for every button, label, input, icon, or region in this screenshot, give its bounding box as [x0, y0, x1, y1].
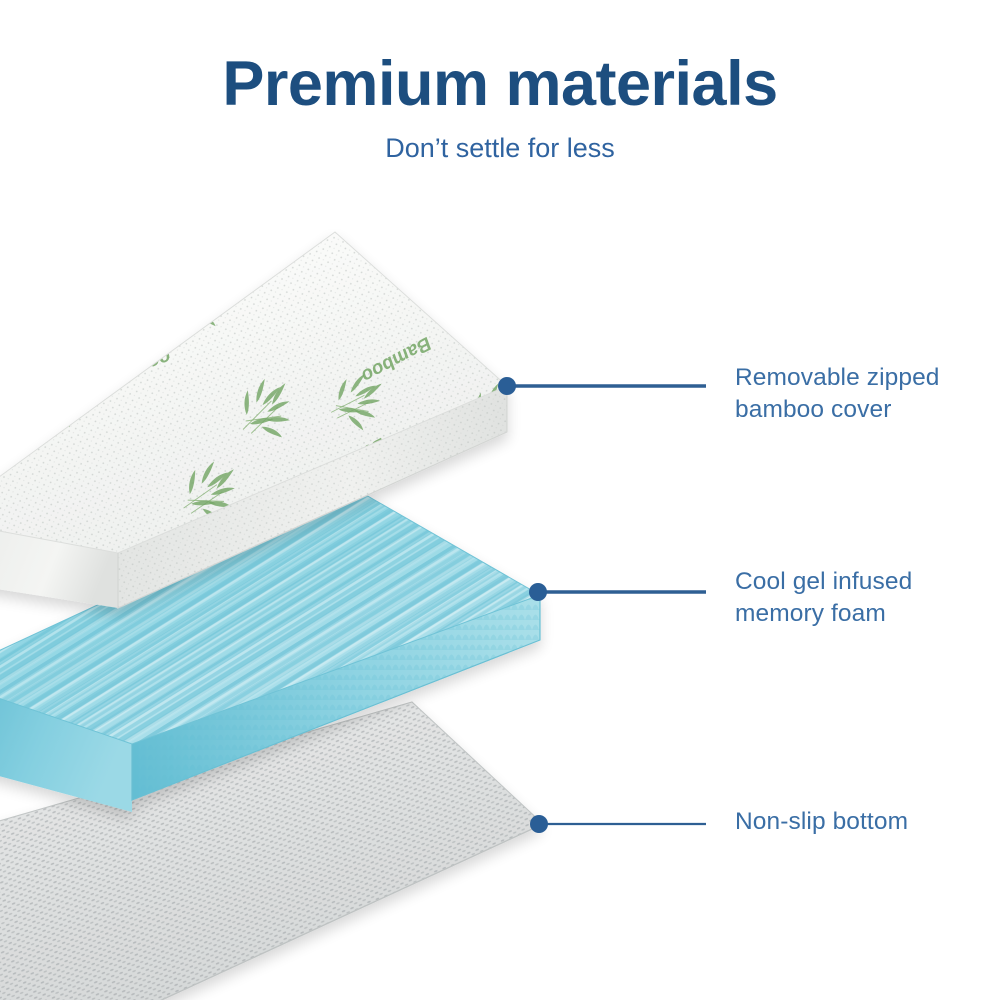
- leader-dot-non-slip-bottom: [530, 815, 548, 833]
- callout-non-slip-bottom: Non-slip bottom: [735, 806, 908, 838]
- leader-dot-removable-zipped-bamboo-cover: [498, 377, 516, 395]
- leader-dot-cool-gel-infused-memory-foam: [529, 583, 547, 601]
- bamboo-leaf-motif: [92, 311, 153, 369]
- callout-removable-zipped-bamboo-cover: Removable zipped bamboo cover: [735, 362, 940, 427]
- infographic-page: Premium materials Don’t settle for less: [0, 0, 1000, 1000]
- product-layers-illustration: BambooBambooBambooBambooBamboo: [0, 0, 1000, 1000]
- bamboo-wordmark: Bamboo: [0, 243, 64, 290]
- callout-cool-gel-infused-memory-foam: Cool gel infused memory foam: [735, 566, 912, 631]
